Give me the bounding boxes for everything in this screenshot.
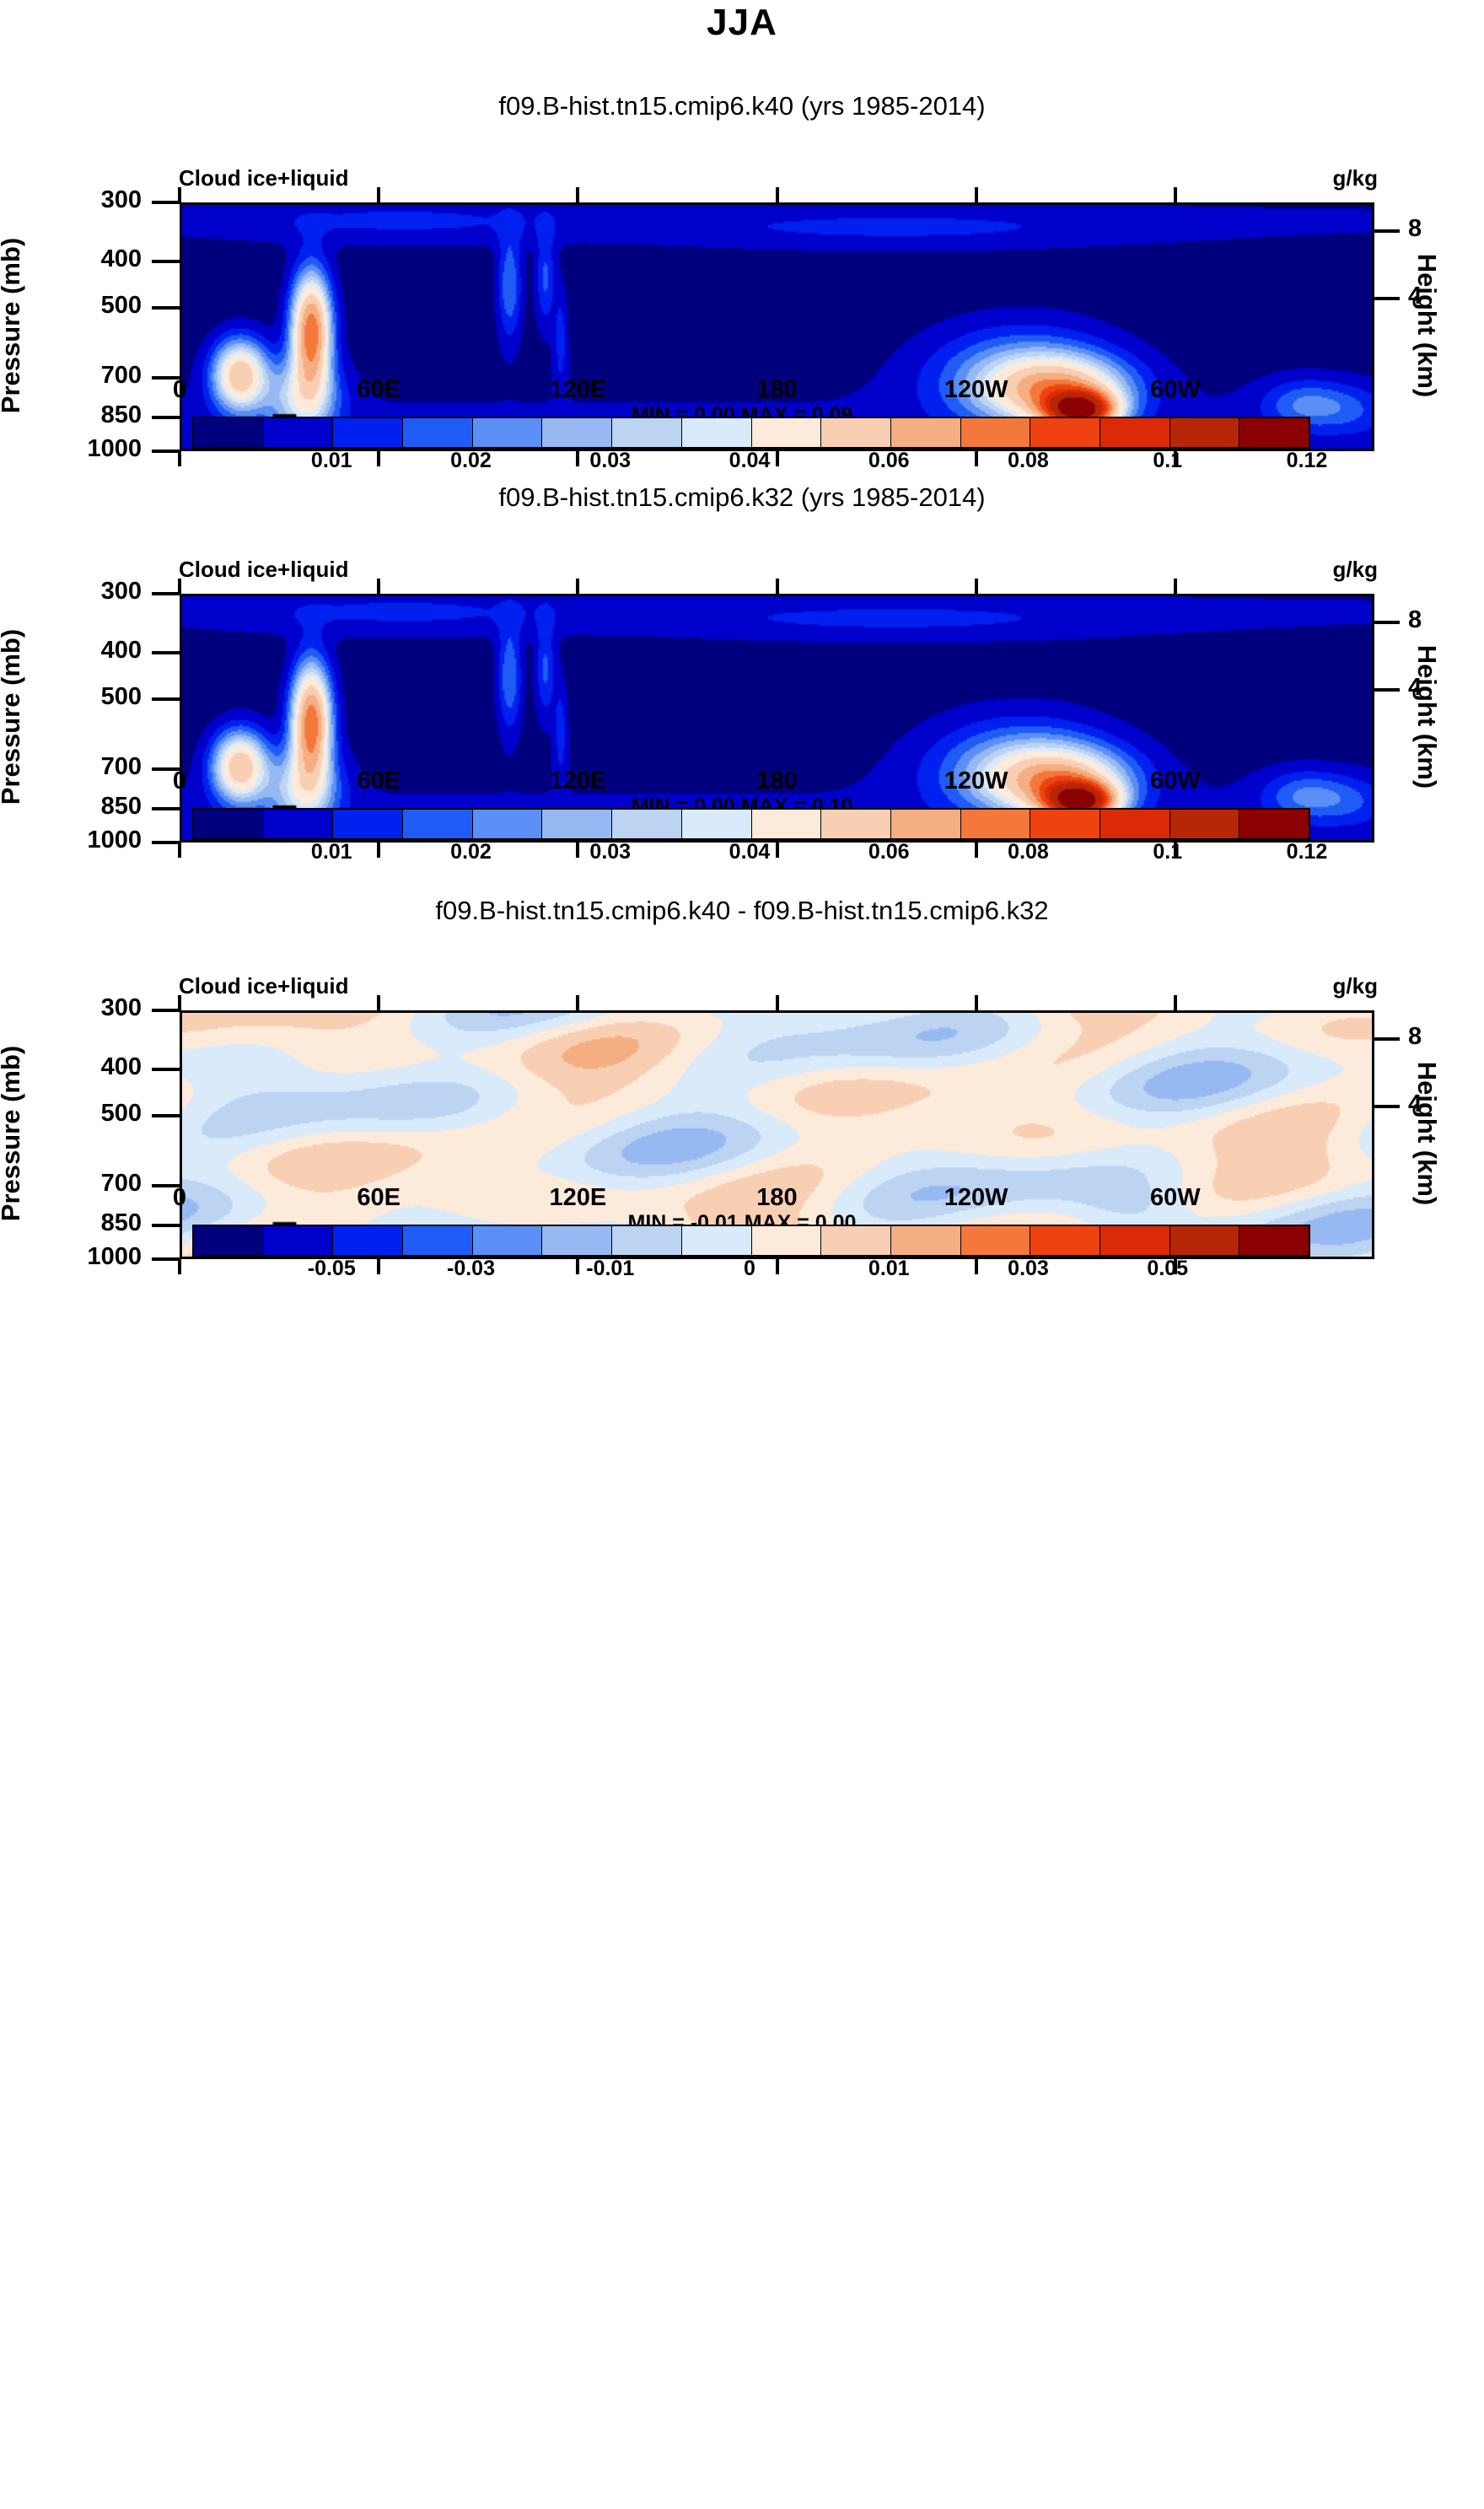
x-tickmark-top-1-p1 bbox=[377, 187, 380, 202]
units-label-2: g/kg bbox=[1333, 557, 1378, 583]
x-tick-60e-p3: 60E bbox=[357, 1184, 401, 1212]
y-tick-500-p2: 500 bbox=[32, 683, 142, 711]
colorbar-cell-1-p3 bbox=[264, 1226, 334, 1255]
units-label-3: g/kg bbox=[1333, 973, 1378, 999]
x-tickmark-top-0-p3 bbox=[178, 995, 181, 1010]
y-tick-height-8-p3: 8 bbox=[1408, 1023, 1422, 1051]
x-tick-120w-p2: 120W bbox=[944, 767, 1008, 795]
y-tick-400-p3: 400 bbox=[32, 1053, 142, 1081]
colorbar-cell-4-p3 bbox=[473, 1226, 543, 1255]
x-tick-60w-p2: 60W bbox=[1150, 767, 1201, 795]
x-tickmark-top-3-p1 bbox=[776, 187, 779, 202]
y-tickmark-right-4-p3 bbox=[1374, 1105, 1400, 1108]
y-tickmark-right-8-p1 bbox=[1374, 229, 1400, 233]
x-tick-180-p2: 180 bbox=[756, 767, 797, 795]
x-tickmark-top-4-p2 bbox=[975, 579, 978, 594]
colorbar-cell-7-p3 bbox=[682, 1226, 752, 1255]
colorbar-cell-13-p3 bbox=[1100, 1226, 1170, 1255]
y-tickmark-left-1000-p3 bbox=[152, 1257, 180, 1261]
panel-title-1: f09.B-hist.tn15.cmip6.k40 (yrs 1985-2014… bbox=[0, 91, 1484, 121]
x-tickmark-top-3-p2 bbox=[776, 579, 779, 594]
colorbar-cell-9-p3 bbox=[821, 1226, 891, 1255]
x-tick-60w-p3: 60W bbox=[1150, 1184, 1201, 1212]
y-tick-height-4-p3: 4 bbox=[1408, 1090, 1422, 1118]
colorbar-label-6-p3: 0.05 bbox=[1147, 1257, 1188, 1281]
colorbar-cell-8-p3 bbox=[752, 1226, 822, 1255]
y-tickmark-left-400-p1 bbox=[152, 260, 180, 263]
x-tickmark-top-1-p3 bbox=[377, 995, 380, 1010]
y-tickmark-left-400-p2 bbox=[152, 651, 180, 654]
y-tick-500-p3: 500 bbox=[32, 1100, 142, 1128]
x-tick-0-p3: 0 bbox=[173, 1184, 186, 1212]
x-tickmark-top-2-p3 bbox=[576, 995, 579, 1010]
x-tickmark-top-5-p1 bbox=[1174, 187, 1177, 202]
x-tickmark-top-1-p2 bbox=[377, 579, 380, 594]
y-axis-label-pressure-3: Pressure (mb) bbox=[0, 965, 26, 1302]
panel-3: f09.B-hist.tn15.cmip6.k40 - f09.B-hist.t… bbox=[0, 808, 1484, 1651]
y-tickmark-left-300-p3 bbox=[152, 1009, 180, 1012]
colorbar-label-1-p3: -0.03 bbox=[447, 1257, 495, 1281]
x-tickmark-top-5-p3 bbox=[1174, 995, 1177, 1010]
variable-label-2: Cloud ice+liquid bbox=[179, 557, 349, 583]
y-tickmark-left-300-p1 bbox=[152, 201, 180, 204]
y-tickmark-left-400-p3 bbox=[152, 1068, 180, 1071]
y-tick-300-p1: 300 bbox=[32, 186, 142, 214]
x-tickmark-top-0-p2 bbox=[178, 579, 181, 594]
x-tick-180-p3: 180 bbox=[756, 1184, 797, 1212]
x-tickmark-120w-p3 bbox=[975, 1259, 978, 1274]
x-tickmark-120e-p3 bbox=[576, 1259, 579, 1274]
x-tickmark-top-2-p2 bbox=[576, 579, 579, 594]
y-tick-700-p1: 700 bbox=[32, 362, 142, 390]
x-tickmark-180-p3 bbox=[776, 1259, 779, 1274]
x-tick-60e-p2: 60E bbox=[357, 767, 401, 795]
y-axis-label-height-3: Height (km) bbox=[1411, 965, 1442, 1302]
colorbar-cell-12-p3 bbox=[1030, 1226, 1100, 1255]
colorbar-label-0-p3: -0.05 bbox=[308, 1257, 356, 1281]
x-tick-0-p2: 0 bbox=[173, 767, 186, 795]
y-tick-height-8-p1: 8 bbox=[1408, 215, 1422, 243]
y-tickmark-right-8-p2 bbox=[1374, 621, 1400, 624]
colorbar-cell-11-p3 bbox=[961, 1226, 1031, 1255]
colorbar-label-2-p3: -0.01 bbox=[586, 1257, 634, 1281]
colorbar-cell-10-p3 bbox=[891, 1226, 961, 1255]
y-tick-height-4-p2: 4 bbox=[1408, 674, 1422, 702]
colorbar-cell-15-p3 bbox=[1239, 1226, 1309, 1255]
variable-label-3: Cloud ice+liquid bbox=[179, 973, 349, 999]
y-tickmark-right-4-p1 bbox=[1374, 297, 1400, 300]
colorbar-label-3-p3: 0 bbox=[744, 1257, 755, 1281]
colorbar-cell-6-p3 bbox=[612, 1226, 682, 1255]
x-tickmark-top-5-p2 bbox=[1174, 579, 1177, 594]
y-tick-height-4-p1: 4 bbox=[1408, 283, 1422, 310]
colorbar-cell-3-p3 bbox=[403, 1226, 473, 1255]
y-tickmark-left-500-p1 bbox=[152, 306, 180, 310]
variable-label-1: Cloud ice+liquid bbox=[179, 165, 349, 191]
units-label-1: g/kg bbox=[1333, 165, 1378, 191]
colorbar-label-4-p3: 0.01 bbox=[868, 1257, 910, 1281]
figure-root: JJA f09.B-hist.tn15.cmip6.k40 (yrs 1985-… bbox=[0, 0, 1484, 2509]
colorbar-cell-14-p3 bbox=[1170, 1226, 1240, 1255]
y-tick-1000-p3: 1000 bbox=[32, 1243, 142, 1271]
x-tickmark-top-4-p3 bbox=[975, 995, 978, 1010]
x-tick-120e-p2: 120E bbox=[549, 767, 606, 795]
colorbar-cell-5-p3 bbox=[542, 1226, 612, 1255]
x-tickmark-top-3-p3 bbox=[776, 995, 779, 1010]
y-tick-400-p1: 400 bbox=[32, 245, 142, 273]
x-tickmark-60e-p3 bbox=[377, 1259, 380, 1274]
x-tickmark-top-0-p1 bbox=[178, 187, 181, 202]
colorbar-cell-0-p3 bbox=[194, 1226, 264, 1255]
y-tickmark-left-300-p2 bbox=[152, 592, 180, 595]
x-tickmark-0-p3 bbox=[178, 1259, 181, 1274]
panel-title-2: f09.B-hist.tn15.cmip6.k32 (yrs 1985-2014… bbox=[0, 482, 1484, 513]
y-tick-500-p1: 500 bbox=[32, 292, 142, 320]
y-tick-700-p3: 700 bbox=[32, 1170, 142, 1198]
y-tickmark-left-500-p2 bbox=[152, 697, 180, 701]
y-tick-300-p3: 300 bbox=[32, 994, 142, 1022]
y-tickmark-right-8-p3 bbox=[1374, 1037, 1400, 1041]
y-tickmark-right-4-p2 bbox=[1374, 688, 1400, 692]
y-tick-height-8-p2: 8 bbox=[1408, 606, 1422, 634]
y-tickmark-left-500-p3 bbox=[152, 1114, 180, 1117]
x-tickmark-top-4-p1 bbox=[975, 187, 978, 202]
x-tick-120w-p3: 120W bbox=[944, 1184, 1008, 1212]
colorbar-label-5-p3: 0.03 bbox=[1008, 1257, 1049, 1281]
colorbar-3[interactable] bbox=[192, 1225, 1310, 1257]
panel-title-3: f09.B-hist.tn15.cmip6.k40 - f09.B-hist.t… bbox=[0, 896, 1484, 926]
x-tick-120e-p3: 120E bbox=[549, 1184, 606, 1212]
colorbar-cell-2-p3 bbox=[333, 1226, 403, 1255]
y-tick-700-p2: 700 bbox=[32, 753, 142, 781]
y-tick-400-p2: 400 bbox=[32, 637, 142, 665]
y-tick-300-p2: 300 bbox=[32, 578, 142, 606]
x-tickmark-top-2-p1 bbox=[576, 187, 579, 202]
